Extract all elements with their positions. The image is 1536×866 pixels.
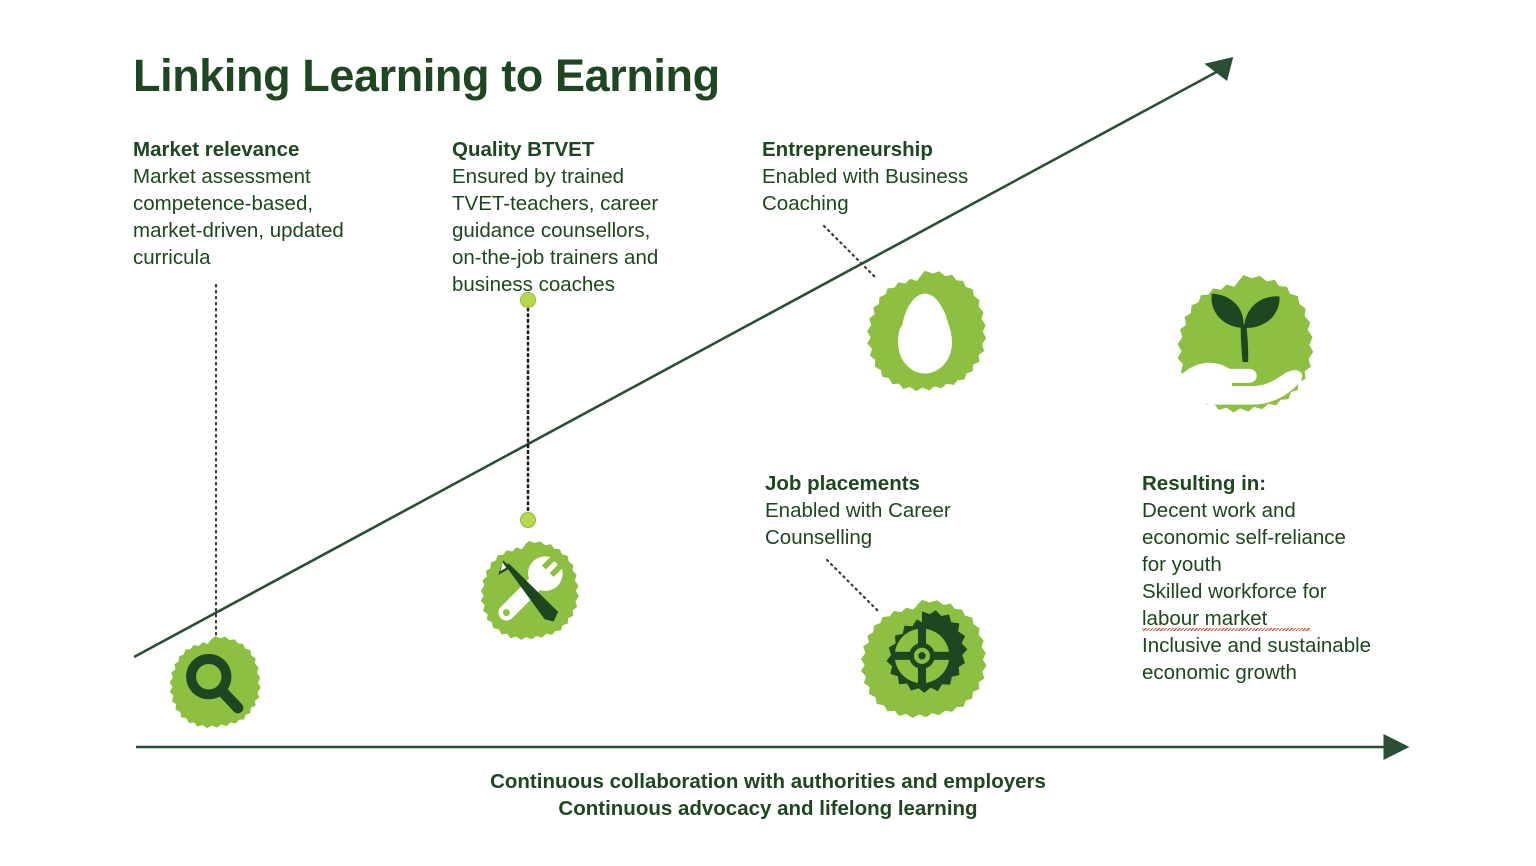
body-line: Enabled with Career bbox=[765, 497, 1005, 524]
caption-line: Continuous collaboration with authoritie… bbox=[0, 768, 1536, 795]
body-line: for youth bbox=[1142, 551, 1412, 578]
heading-entrepreneurship: Entrepreneurship bbox=[762, 136, 1017, 163]
bottom-caption: Continuous collaboration with authoritie… bbox=[0, 768, 1536, 822]
text-block-job-placements: Job placements Enabled with Career Couns… bbox=[765, 470, 1005, 551]
text-block-quality-btvet: Quality BTVET Ensured by trained TVET-te… bbox=[452, 136, 702, 298]
icon-badge-cracked-egg[interactable] bbox=[857, 268, 993, 404]
heading-market-relevance: Market relevance bbox=[133, 136, 403, 163]
body-line: Market assessment bbox=[133, 163, 403, 190]
icon-badge-pencil-wrench[interactable] bbox=[473, 538, 585, 650]
body-line: Skilled workforce for bbox=[1142, 578, 1412, 605]
body-line: economic growth bbox=[1142, 659, 1412, 686]
icon-badge-gear[interactable] bbox=[849, 597, 995, 729]
body-line: market-driven, updated bbox=[133, 217, 403, 244]
body-line: competence-based, bbox=[133, 190, 403, 217]
body-line: on-the-job trainers and bbox=[452, 244, 702, 271]
body-line: Ensured by trained bbox=[452, 163, 702, 190]
slide-canvas: Linking Learning to Earning Market relev… bbox=[0, 0, 1536, 866]
connector-quality-btvet bbox=[521, 293, 536, 528]
text-block-market-relevance: Market relevance Market assessment compe… bbox=[133, 136, 403, 271]
body-line: TVET-teachers, career bbox=[452, 190, 702, 217]
body-line: Enabled with Business bbox=[762, 163, 1017, 190]
torn-circle-bg bbox=[170, 636, 261, 728]
caption-line: Continuous advocacy and lifelong learnin… bbox=[0, 795, 1536, 822]
heading-resulting-in: Resulting in: bbox=[1142, 470, 1412, 497]
body-line: Decent work and bbox=[1142, 497, 1412, 524]
body-line: guidance counsellors, bbox=[452, 217, 702, 244]
heading-job-placements: Job placements bbox=[765, 470, 1005, 497]
page-title: Linking Learning to Earning bbox=[133, 50, 720, 102]
body-line: Counselling bbox=[765, 524, 1005, 551]
heading-quality-btvet: Quality BTVET bbox=[452, 136, 702, 163]
body-line: Inclusive and sustainable bbox=[1142, 632, 1412, 659]
icon-badge-hand-sprout[interactable] bbox=[1166, 272, 1321, 424]
body-line: business coaches bbox=[452, 271, 702, 298]
body-line: Coaching bbox=[762, 190, 1017, 217]
body-line: curricula bbox=[133, 244, 403, 271]
body-line-spellchecked: labour market bbox=[1142, 605, 1412, 632]
text-block-resulting-in: Resulting in: Decent work and economic s… bbox=[1142, 470, 1412, 686]
body-line: economic self-reliance bbox=[1142, 524, 1412, 551]
text-block-entrepreneurship: Entrepreneurship Enabled with Business C… bbox=[762, 136, 1017, 217]
icon-badge-magnifying-glass[interactable] bbox=[163, 633, 267, 737]
